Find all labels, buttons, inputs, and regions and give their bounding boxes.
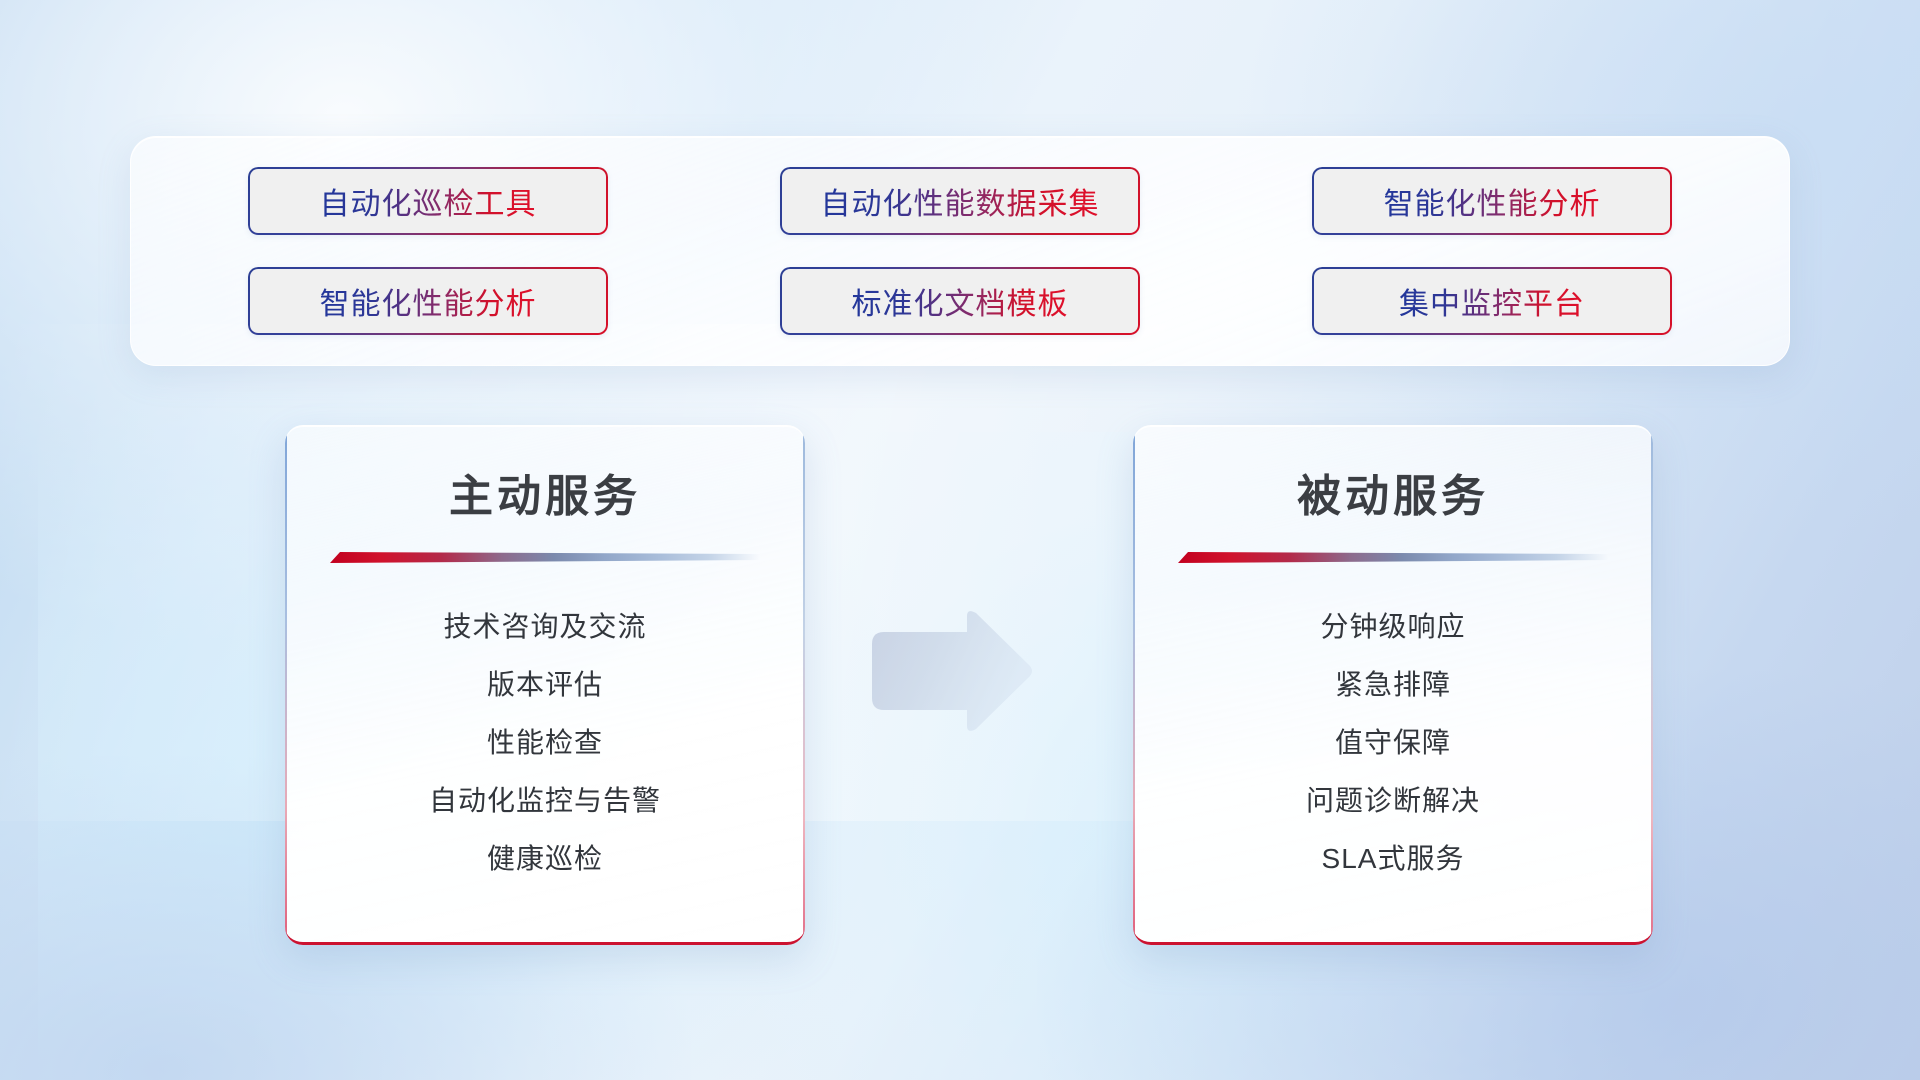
service-item[interactable]: 问题诊断解决 [1133,772,1653,830]
service-item[interactable]: 健康巡检 [285,830,805,888]
capability-tag-intelligent-performance-analysis-2[interactable]: 智能化性能分析 [248,267,608,335]
service-item[interactable]: 值守保障 [1133,714,1653,772]
capability-tag-centralized-monitoring-platform[interactable]: 集中监控平台 [1312,267,1672,335]
service-item[interactable]: SLA式服务 [1133,830,1653,888]
service-card-passive: 被动服务 分钟级响应 紧急排障 值守保障 问题诊断解决 SLA式服务 [1133,425,1653,945]
title-divider [1178,552,1608,564]
service-item-list: 技术咨询及交流 版本评估 性能检查 自动化监控与告警 健康巡检 [285,598,805,888]
capability-tag-standardized-document-template[interactable]: 标准化文档模板 [780,267,1140,335]
title-divider-bar [330,552,760,564]
service-item[interactable]: 性能检查 [285,714,805,772]
service-item-list: 分钟级响应 紧急排障 值守保障 问题诊断解决 SLA式服务 [1133,598,1653,888]
capability-tags-panel: 自动化巡检工具 自动化性能数据采集 智能化性能分析 智能化性能分析 标准化文档模… [130,136,1790,366]
service-card-active: 主动服务 技术咨询及交流 版本评估 性能检查 自动化监控与告警 健康巡检 [285,425,805,945]
capability-tag-label: 自动化巡检工具 [320,179,537,223]
capability-tag-label: 集中监控平台 [1399,279,1585,323]
service-card-title: 主动服务 [285,460,805,524]
capability-tag-label: 智能化性能分析 [320,279,537,323]
service-item[interactable]: 分钟级响应 [1133,598,1653,656]
service-item[interactable]: 版本评估 [285,656,805,714]
service-item[interactable]: 紧急排障 [1133,656,1653,714]
service-item[interactable]: 自动化监控与告警 [285,772,805,830]
capability-tag-label: 自动化性能数据采集 [821,179,1100,223]
title-divider-bar [1178,552,1608,564]
capability-tag-label: 智能化性能分析 [1384,179,1601,223]
service-item[interactable]: 技术咨询及交流 [285,598,805,656]
right-arrow-icon [868,608,1034,736]
capability-tag-label: 标准化文档模板 [852,279,1069,323]
capability-tag-automated-inspection-tool[interactable]: 自动化巡检工具 [248,167,608,235]
capability-tag-intelligent-performance-analysis-1[interactable]: 智能化性能分析 [1312,167,1672,235]
capability-tag-automated-performance-data-collection[interactable]: 自动化性能数据采集 [780,167,1140,235]
title-divider [330,552,760,564]
service-card-title: 被动服务 [1133,460,1653,524]
